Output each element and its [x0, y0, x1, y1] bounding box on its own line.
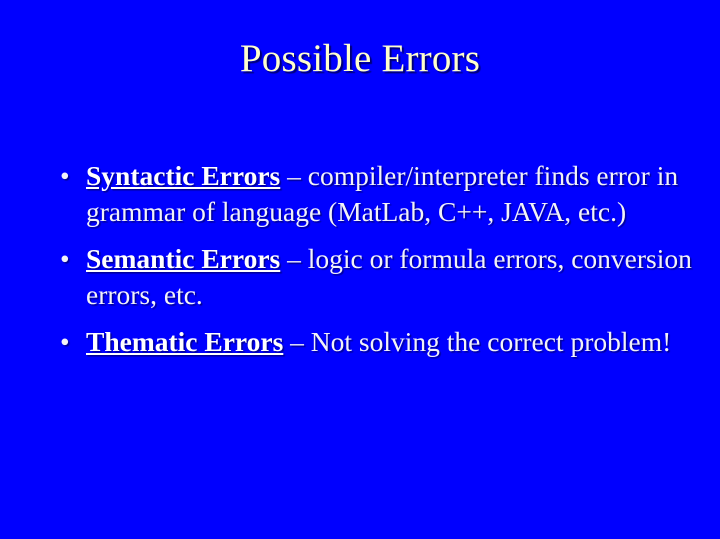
bullet-dash: –	[280, 160, 308, 191]
list-item: • Syntactic Errors – compiler/interprete…	[56, 158, 696, 229]
bullet-text: Thematic Errors – Not solving the correc…	[86, 324, 696, 360]
bullet-text: Semantic Errors – logic or formula error…	[86, 241, 696, 312]
bullet-point-icon: •	[60, 241, 70, 277]
bullet-dash: –	[280, 243, 308, 274]
bullet-dash: –	[283, 326, 311, 357]
bullet-list: • Syntactic Errors – compiler/interprete…	[56, 158, 696, 360]
list-item: • Thematic Errors – Not solving the corr…	[56, 324, 696, 360]
bullet-term: Syntactic Errors	[86, 160, 280, 191]
list-item: • Semantic Errors – logic or formula err…	[56, 241, 696, 312]
presentation-slide: Possible Errors • Syntactic Errors – com…	[0, 0, 720, 539]
page-title: Possible Errors	[0, 36, 720, 82]
bullet-term: Thematic Errors	[86, 326, 283, 357]
bullet-detail: Not solving the correct problem!	[311, 326, 671, 357]
bullet-point-icon: •	[60, 158, 70, 194]
bullet-text: Syntactic Errors – compiler/interpreter …	[86, 158, 696, 229]
bullet-term: Semantic Errors	[86, 243, 280, 274]
bullet-point-icon: •	[60, 324, 70, 360]
